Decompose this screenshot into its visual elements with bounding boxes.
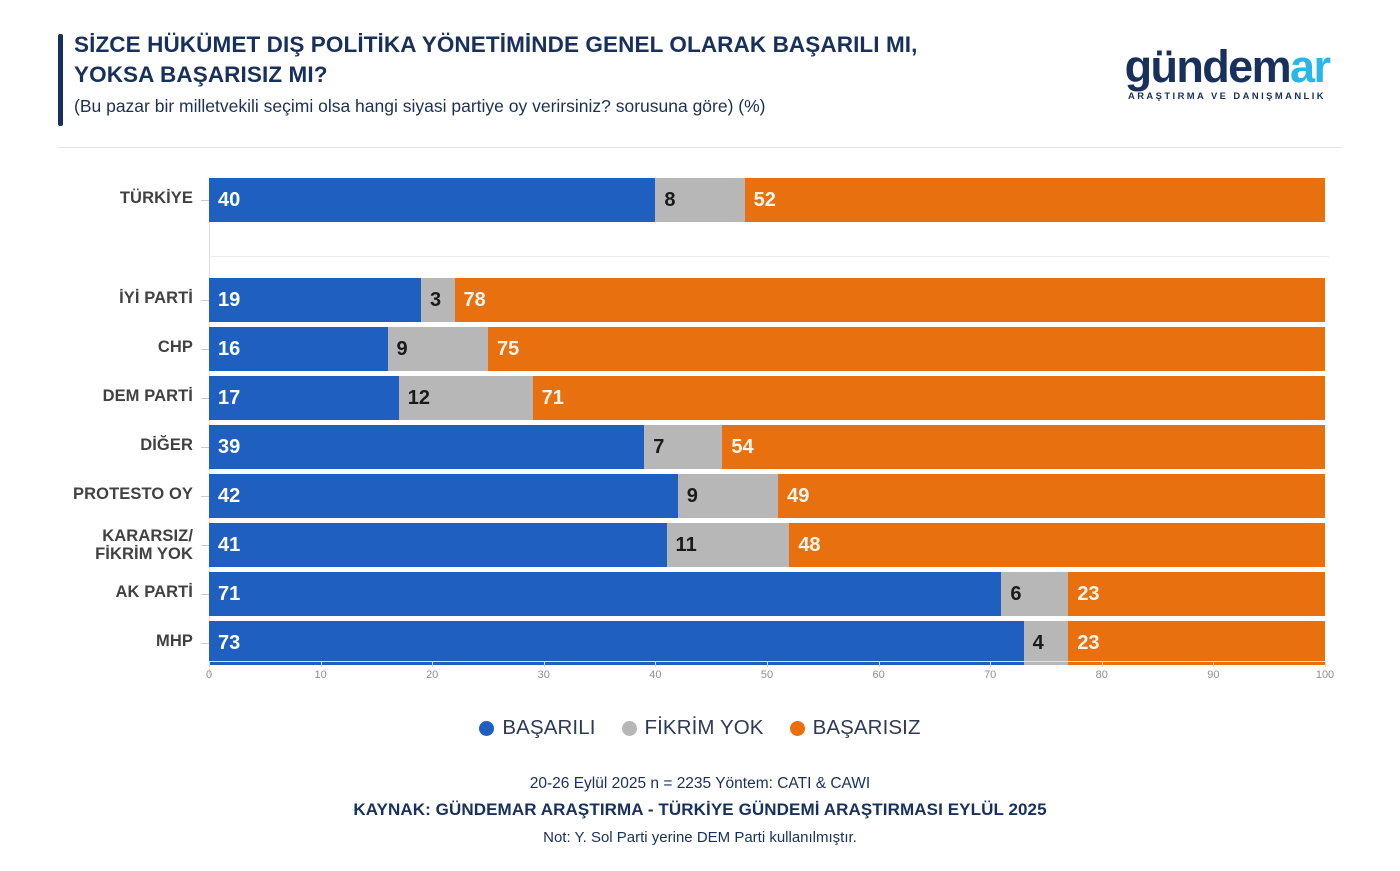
x-tick-mark bbox=[767, 661, 768, 667]
row-tick-mark bbox=[201, 643, 209, 644]
legend-dot-icon-fikrim-yok bbox=[622, 721, 637, 736]
row-bar-group: 39754 bbox=[209, 425, 1325, 469]
stacked-bar-chart: TÜRKİYE40852İYİ PARTİ19378CHP16975DEM PA… bbox=[0, 160, 1400, 690]
legend-item-fikrim-yok[interactable]: FİKRİM YOK bbox=[622, 716, 764, 740]
x-tick-label: 100 bbox=[1316, 669, 1334, 681]
bar-segment-basarili[interactable]: 16 bbox=[209, 327, 388, 371]
footer-source: KAYNAK: GÜNDEMAR ARAŞTIRMA - TÜRKİYE GÜN… bbox=[0, 795, 1400, 825]
legend-label-basarili: BAŞARILI bbox=[502, 716, 595, 740]
logo-tagline: ARAŞTIRMA VE DANIŞMANLIK bbox=[1112, 90, 1342, 101]
row-label: DİĞER bbox=[0, 436, 193, 454]
bar-segment-basarili[interactable]: 40 bbox=[209, 178, 655, 222]
gundemar-logo: gündemar ARAŞTIRMA VE DANIŞMANLIK bbox=[1112, 46, 1342, 101]
chart-row: PROTESTO OY42949 bbox=[0, 474, 1400, 518]
bar-segment-fikrim-yok[interactable]: 11 bbox=[667, 523, 790, 567]
chart-header: SİZCE HÜKÜMET DIŞ POLİTİKA YÖNETİMİNDE G… bbox=[0, 0, 1400, 147]
bar-segment-fikrim-yok[interactable]: 9 bbox=[388, 327, 488, 371]
row-label: AK PARTİ bbox=[0, 583, 193, 601]
logo-word-light: ar bbox=[1290, 41, 1329, 92]
row-tick-mark bbox=[201, 349, 209, 350]
x-tick-mark bbox=[655, 661, 656, 667]
bar-value-label: 23 bbox=[1077, 632, 1099, 655]
chart-row: DİĞER39754 bbox=[0, 425, 1400, 469]
bar-segment-fikrim-yok[interactable]: 6 bbox=[1001, 572, 1068, 616]
bar-value-label: 40 bbox=[218, 189, 240, 212]
x-tick-mark bbox=[1213, 661, 1214, 667]
row-bar-group: 71623 bbox=[209, 572, 1325, 616]
row-tick-mark bbox=[201, 200, 209, 201]
total-party-divider bbox=[209, 256, 1329, 257]
row-label: DEM PARTİ bbox=[0, 387, 193, 405]
title-block: SİZCE HÜKÜMET DIŞ POLİTİKA YÖNETİMİNDE G… bbox=[74, 30, 1074, 118]
x-tick-mark bbox=[879, 661, 880, 667]
bar-value-label: 78 bbox=[464, 289, 486, 312]
x-tick-label: 0 bbox=[206, 669, 212, 681]
chart-row: DEM PARTİ171271 bbox=[0, 376, 1400, 420]
row-bar-group: 171271 bbox=[209, 376, 1325, 420]
legend-label-fikrim-yok: FİKRİM YOK bbox=[645, 716, 764, 740]
x-tick-label: 20 bbox=[426, 669, 438, 681]
x-tick-mark bbox=[209, 661, 210, 667]
bar-value-label: 49 bbox=[787, 485, 809, 508]
chart-row: CHP16975 bbox=[0, 327, 1400, 371]
legend-item-basarisiz[interactable]: BAŞARISIZ bbox=[790, 716, 921, 740]
x-tick-mark bbox=[321, 661, 322, 667]
bar-segment-basarili[interactable]: 17 bbox=[209, 376, 399, 420]
bar-value-label: 4 bbox=[1033, 632, 1044, 655]
bar-segment-basarisiz[interactable]: 54 bbox=[722, 425, 1325, 469]
chart-row: TÜRKİYE40852 bbox=[0, 178, 1400, 222]
bar-value-label: 71 bbox=[218, 583, 240, 606]
bar-value-label: 9 bbox=[397, 338, 408, 361]
bar-value-label: 7 bbox=[653, 436, 664, 459]
x-tick-label: 30 bbox=[538, 669, 550, 681]
row-label: KARARSIZ/ FİKRİM YOK bbox=[0, 527, 193, 563]
x-axis: 0102030405060708090100 bbox=[209, 661, 1325, 691]
x-tick-mark bbox=[432, 661, 433, 667]
row-bar-group: 42949 bbox=[209, 474, 1325, 518]
bar-segment-basarisiz[interactable]: 48 bbox=[789, 523, 1325, 567]
row-label: MHP bbox=[0, 632, 193, 650]
bar-value-label: 73 bbox=[218, 632, 240, 655]
bar-segment-fikrim-yok[interactable]: 4 bbox=[1024, 621, 1069, 665]
bar-value-label: 75 bbox=[497, 338, 519, 361]
bar-value-label: 48 bbox=[798, 534, 820, 557]
bar-value-label: 54 bbox=[731, 436, 753, 459]
row-tick-mark bbox=[201, 447, 209, 448]
bar-value-label: 11 bbox=[676, 534, 697, 557]
row-tick-mark bbox=[201, 594, 209, 595]
row-bar-group: 411148 bbox=[209, 523, 1325, 567]
legend-dot-icon-basarisiz bbox=[790, 721, 805, 736]
bar-segment-basarili[interactable]: 42 bbox=[209, 474, 678, 518]
row-tick-mark bbox=[201, 496, 209, 497]
title-accent-bar bbox=[58, 34, 63, 126]
bar-value-label: 6 bbox=[1010, 583, 1021, 606]
row-bar-group: 19378 bbox=[209, 278, 1325, 322]
bar-segment-basarili[interactable]: 19 bbox=[209, 278, 421, 322]
bar-value-label: 42 bbox=[218, 485, 240, 508]
footer-methodology: 20-26 Eylül 2025 n = 2235 Yöntem: CATI &… bbox=[0, 772, 1400, 795]
bar-segment-basarili[interactable]: 39 bbox=[209, 425, 644, 469]
x-tick-mark bbox=[1102, 661, 1103, 667]
x-tick-label: 80 bbox=[1096, 669, 1108, 681]
chart-row: AK PARTİ71623 bbox=[0, 572, 1400, 616]
x-tick-label: 60 bbox=[872, 669, 884, 681]
row-label: PROTESTO OY bbox=[0, 485, 193, 503]
bar-segment-basarisiz[interactable]: 49 bbox=[778, 474, 1325, 518]
footer-note: Not: Y. Sol Parti yerine DEM Parti kulla… bbox=[0, 825, 1400, 851]
bar-segment-basarisiz[interactable]: 23 bbox=[1068, 572, 1325, 616]
row-bar-group: 40852 bbox=[209, 178, 1325, 222]
logo-word-dark: gündem bbox=[1125, 41, 1290, 92]
bar-value-label: 19 bbox=[218, 289, 240, 312]
bar-value-label: 39 bbox=[218, 436, 240, 459]
bar-value-label: 9 bbox=[687, 485, 698, 508]
row-label: İYİ PARTİ bbox=[0, 289, 193, 307]
row-tick-mark bbox=[201, 545, 209, 546]
x-tick-mark bbox=[990, 661, 991, 667]
x-tick-label: 50 bbox=[761, 669, 773, 681]
x-tick-mark bbox=[1325, 661, 1326, 667]
bar-value-label: 23 bbox=[1077, 583, 1099, 606]
x-tick-label: 90 bbox=[1207, 669, 1219, 681]
bar-segment-fikrim-yok[interactable]: 12 bbox=[399, 376, 533, 420]
bar-value-label: 41 bbox=[218, 534, 240, 557]
row-tick-mark bbox=[201, 398, 209, 399]
bar-segment-fikrim-yok[interactable]: 3 bbox=[421, 278, 454, 322]
bar-segment-basarisiz[interactable]: 52 bbox=[745, 178, 1325, 222]
bar-segment-basarili[interactable]: 73 bbox=[209, 621, 1024, 665]
x-tick-mark bbox=[544, 661, 545, 667]
page-title: SİZCE HÜKÜMET DIŞ POLİTİKA YÖNETİMİNDE G… bbox=[74, 30, 1074, 89]
bar-segment-basarili[interactable]: 41 bbox=[209, 523, 667, 567]
bar-segment-basarili[interactable]: 71 bbox=[209, 572, 1001, 616]
legend-label-basarisiz: BAŞARISIZ bbox=[813, 716, 921, 740]
row-bar-group: 73423 bbox=[209, 621, 1325, 665]
bar-value-label: 16 bbox=[218, 338, 240, 361]
bar-segment-fikrim-yok[interactable]: 7 bbox=[644, 425, 722, 469]
legend-dot-icon-basarili bbox=[479, 721, 494, 736]
x-tick-label: 40 bbox=[649, 669, 661, 681]
bar-value-label: 52 bbox=[754, 189, 776, 212]
bar-segment-fikrim-yok[interactable]: 9 bbox=[678, 474, 778, 518]
bar-segment-basarisiz[interactable]: 23 bbox=[1068, 621, 1325, 665]
chart-legend: BAŞARILI FİKRİM YOK BAŞARISIZ bbox=[0, 716, 1400, 740]
bar-segment-basarisiz[interactable]: 78 bbox=[455, 278, 1325, 322]
x-tick-label: 70 bbox=[984, 669, 996, 681]
bar-value-label: 3 bbox=[430, 289, 441, 312]
bar-segment-basarisiz[interactable]: 71 bbox=[533, 376, 1325, 420]
row-bar-group: 16975 bbox=[209, 327, 1325, 371]
chart-row: MHP73423 bbox=[0, 621, 1400, 665]
row-label: TÜRKİYE bbox=[0, 189, 193, 207]
bar-value-label: 12 bbox=[408, 387, 430, 410]
chart-row: İYİ PARTİ19378 bbox=[0, 278, 1400, 322]
chart-row: KARARSIZ/ FİKRİM YOK411148 bbox=[0, 523, 1400, 567]
chart-footer: 20-26 Eylül 2025 n = 2235 Yöntem: CATI &… bbox=[0, 772, 1400, 851]
page-subtitle: (Bu pazar bir milletvekili seçimi olsa h… bbox=[74, 95, 1074, 118]
bar-value-label: 71 bbox=[542, 387, 564, 410]
bar-segment-basarisiz[interactable]: 75 bbox=[488, 327, 1325, 371]
bar-value-label: 17 bbox=[218, 387, 240, 410]
bar-segment-fikrim-yok[interactable]: 8 bbox=[655, 178, 744, 222]
row-label: CHP bbox=[0, 338, 193, 356]
logo-wordmark: gündemar bbox=[1112, 46, 1342, 89]
header-divider bbox=[58, 147, 1342, 148]
row-tick-mark bbox=[201, 300, 209, 301]
bar-value-label: 8 bbox=[664, 189, 675, 212]
x-tick-label: 10 bbox=[314, 669, 326, 681]
legend-item-basarili[interactable]: BAŞARILI bbox=[479, 716, 595, 740]
